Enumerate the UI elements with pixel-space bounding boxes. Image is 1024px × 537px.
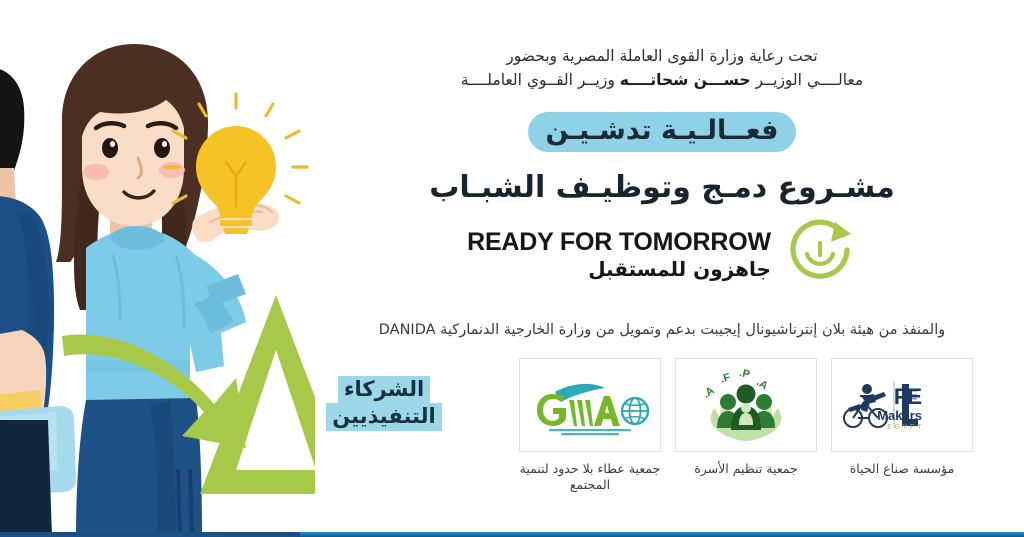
clock-refresh-icon (783, 218, 857, 294)
slogan-english: READY FOR TOMORROW (467, 229, 771, 255)
partner-cell-life-makers: FE Makers EGYPT مؤسسة صناع الحياة (831, 358, 973, 495)
partner-cell-efpa: A. F. P. A. جمعية تنظيم الأسرة (675, 358, 817, 495)
svg-text:F.: F. (719, 371, 732, 385)
partner-cell-gwla: جمعية عطاء بلا حدود لتنمية المجتمع (519, 358, 661, 495)
partners-row: الشركاء التنفيذيين (300, 358, 1024, 495)
partner-caption: جمعية تنظيم الأسرة (675, 461, 817, 478)
partner-logo-card: A. F. P. A. (675, 358, 817, 452)
partners-label: الشركاء التنفيذيين (300, 358, 468, 431)
implementer-text: والمنفذ من هيئة بلان إنترناشيونال إيجيبت… (300, 320, 1024, 342)
slogan-text-block: READY FOR TOMORROW جاهزون للمستقبل (467, 229, 771, 282)
slogan-arabic: جاهزون للمستقبل (467, 257, 771, 282)
partner-logo-card (519, 358, 661, 452)
minister-name: حســـن شحاتــــه (620, 71, 751, 89)
svg-text:A.: A. (754, 376, 770, 392)
svg-text:EGYPT: EGYPT (887, 424, 924, 431)
launch-badge: فعــالـيـة تدشـيـن (528, 112, 797, 152)
slogan-lockup: READY FOR TOMORROW جاهزون للمستقبل (300, 218, 1024, 294)
life-makers-logo-icon: FE Makers EGYPT (840, 376, 964, 434)
patronage-line-1: تحت رعاية وزارة القوى العاملة المصرية وب… (300, 44, 1024, 68)
launch-badge-wrap: فعــالـيـة تدشـيـن (300, 112, 1024, 152)
patronage-prefix: معالــــي الوزيــر (751, 71, 864, 89)
gwla-logo-icon (531, 374, 649, 436)
svg-text:A.: A. (703, 384, 717, 400)
partner-caption: جمعية عطاء بلا حدود لتنمية المجتمع (519, 461, 661, 495)
svg-text:P.: P. (738, 368, 751, 381)
patronage-suffix: وزيــر القــوي العاملــــة (461, 71, 620, 89)
partner-logo-card: FE Makers EGYPT (831, 358, 973, 452)
project-title: مشـروع دمـج وتوظيـف الشبـاب (300, 170, 1024, 206)
content-column: تحت رعاية وزارة القوى العاملة المصرية وب… (300, 0, 1024, 537)
partner-logo-cells: جمعية عطاء بلا حدود لتنمية المجتمع (474, 358, 1018, 495)
patronage-text: تحت رعاية وزارة القوى العاملة المصرية وب… (300, 44, 1024, 92)
partner-caption: مؤسسة صناع الحياة (831, 461, 973, 478)
partners-label-line-2: التنفيذيين (326, 403, 441, 431)
svg-text:FE: FE (894, 384, 922, 409)
banner-stage: تحت رعاية وزارة القوى العاملة المصرية وب… (0, 0, 1024, 537)
efpa-logo-icon: A. F. P. A. (703, 368, 789, 442)
bottom-accent-rule-left (0, 532, 300, 537)
svg-text:Makers: Makers (877, 408, 922, 423)
hero-illustration (0, 0, 315, 537)
partners-label-line-1: الشركاء (338, 376, 430, 404)
patronage-line-2: معالــــي الوزيــر حســـن شحاتــــه وزيـ… (300, 68, 1024, 92)
